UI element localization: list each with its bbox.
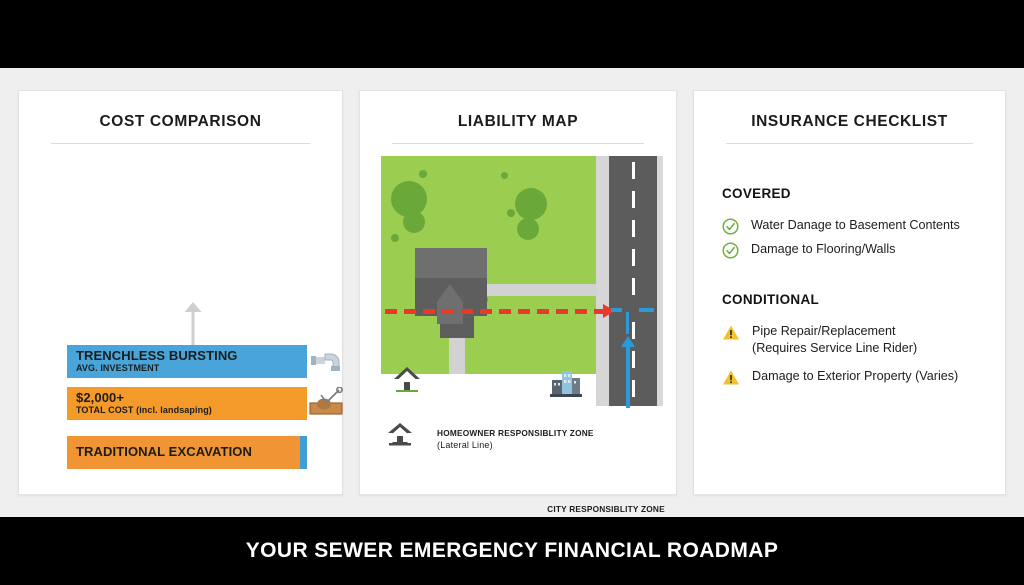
card-insurance-checklist: INSURANCE CHECKLIST COVERED Water Danage… [693, 90, 1006, 495]
covered-item-text: Water Danage to Basement Contents [751, 217, 960, 234]
bar3-label: TRADITIONAL EXCAVATION [76, 445, 307, 459]
bar-total-cost: $2,000+ TOTAL COST (incl. landsaping) [67, 387, 307, 420]
tree [517, 218, 539, 240]
letterbox-top [0, 0, 1024, 68]
road-dash [632, 351, 635, 368]
driveway [487, 284, 597, 296]
shovel-digging-icon [309, 387, 343, 417]
tree-small [391, 234, 399, 242]
tree [515, 188, 547, 220]
warning-triangle-icon [722, 324, 740, 341]
conditional-item-line1: Pipe Repair/Replacement [752, 323, 917, 340]
house-gable [437, 282, 463, 324]
main-line-stem [626, 346, 630, 408]
card-liability-map: LIABILITY MAP [359, 90, 677, 495]
bar-trenchless-bursting: TRENCHLESS BURSTING AVG. INVESTMENT [67, 345, 307, 378]
house-roof-upper [415, 248, 487, 278]
house-icon [393, 366, 421, 392]
house-outline-icon [387, 422, 413, 446]
tree-small [507, 209, 515, 217]
bar-traditional-excavation: TRADITIONAL EXCAVATION [67, 436, 307, 469]
infographic-stage: COST COMPARISON TRENCHLESS BURSTING AVG.… [0, 0, 1024, 585]
main-line-segment [639, 308, 654, 312]
bar2-sublabel: TOTAL COST (incl. landsaping) [76, 405, 307, 416]
city-zone-label: CITY RESPONSIBLITY ZONE [531, 504, 681, 515]
road-shoulder-left [596, 156, 609, 406]
road-dash [632, 162, 635, 179]
infographic-canvas: COST COMPARISON TRENCHLESS BURSTING AVG.… [0, 68, 1024, 517]
title-divider [726, 143, 973, 144]
conditional-item-text: Damage to Exterior Property (Varies) [752, 368, 958, 385]
conditional-item: Pipe Repair/Replacement (Requires Servic… [722, 323, 917, 357]
tree-small [419, 170, 427, 178]
homeowner-zone-label: HOMEOWNER RESPONSIBLITY ZONE [437, 428, 594, 439]
check-circle-icon [722, 218, 739, 235]
road-dash [632, 249, 635, 266]
arrow-up-icon [182, 299, 204, 345]
lateral-line [385, 309, 603, 314]
road-dash [632, 380, 635, 397]
title-divider [51, 143, 310, 144]
conditional-heading: CONDITIONAL [722, 292, 819, 307]
covered-heading: COVERED [722, 186, 791, 201]
footer-title: YOUR SEWER EMERGENCY FINANCIAL ROADMAP [246, 539, 778, 563]
conditional-item: Damage to Exterior Property (Varies) [722, 368, 958, 386]
conditional-item-text: Pipe Repair/Replacement (Requires Servic… [752, 323, 917, 357]
city-buildings-icon [549, 368, 583, 398]
title-divider [392, 143, 644, 144]
cost-comparison-title: COST COMPARISON [19, 113, 342, 131]
warning-triangle-icon [722, 369, 740, 386]
road-shoulder-right [657, 156, 663, 406]
bar2-label: $2,000+ [76, 391, 307, 405]
walkway-front [449, 338, 465, 374]
homeowner-zone-sublabel: (Lateral Line) [437, 439, 594, 451]
bar1-label: TRENCHLESS BURSTING [76, 349, 307, 363]
check-circle-icon [722, 242, 739, 259]
conditional-item-line2: (Requires Service Line Rider) [752, 340, 917, 357]
bar3-cap [300, 436, 307, 469]
road-dash [632, 191, 635, 208]
bar1-sublabel: AVG. INVESTMENT [76, 363, 307, 374]
homeowner-zone-caption: HOMEOWNER RESPONSIBLITY ZONE (Lateral Li… [437, 428, 594, 451]
covered-item-text: Damage to Flooring/Walls [751, 241, 895, 258]
main-line-stub [626, 312, 629, 334]
main-line-segment [611, 308, 622, 312]
road-dash [632, 220, 635, 237]
tree [403, 211, 425, 233]
covered-item: Damage to Flooring/Walls [722, 241, 895, 259]
covered-item: Water Danage to Basement Contents [722, 217, 960, 235]
liability-map-graphic: HOMEOWNER RESPONSIBLITY ZONE (Lateral Li… [381, 156, 656, 406]
footer-banner: YOUR SEWER EMERGENCY FINANCIAL ROADMAP [0, 517, 1024, 585]
road-dash [632, 278, 635, 295]
card-cost-comparison: COST COMPARISON TRENCHLESS BURSTING AVG.… [18, 90, 343, 495]
insurance-checklist-title: INSURANCE CHECKLIST [694, 113, 1005, 131]
pipe-elbow-icon [309, 345, 343, 375]
tree-small [501, 172, 508, 179]
liability-map-title: LIABILITY MAP [360, 113, 676, 131]
